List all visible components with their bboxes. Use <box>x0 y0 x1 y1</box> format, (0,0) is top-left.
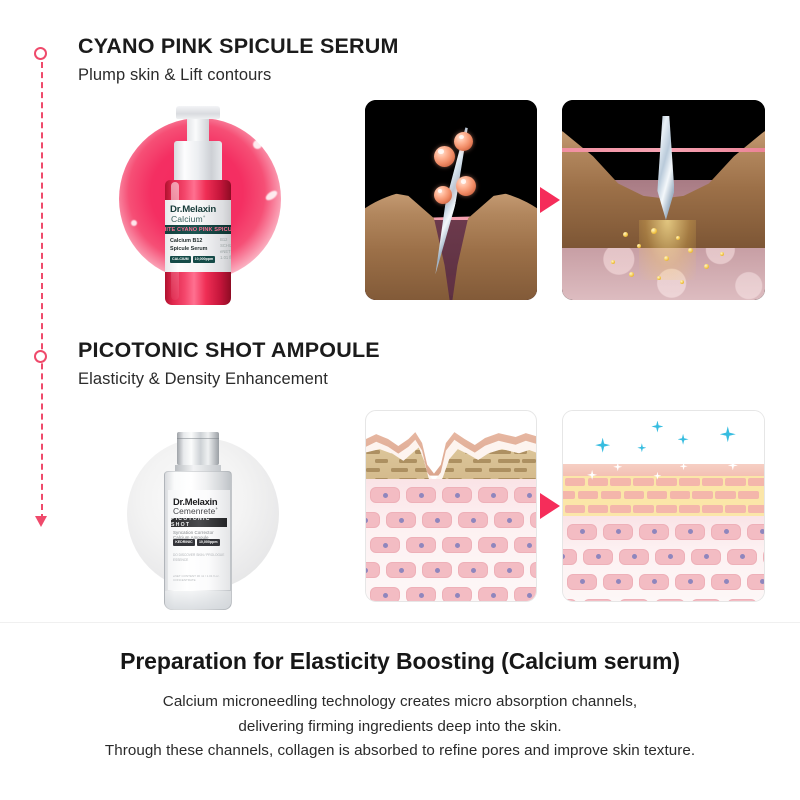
dermis-cell <box>562 599 577 603</box>
bottle-body: Dr.Melaxin Cemenrete+ PICOTONIC SHOT Syn… <box>164 471 232 610</box>
pump-head <box>176 106 220 119</box>
chip-ppm: 10,000ppm <box>193 256 216 262</box>
bottle-col-right-line2: SCHIZANDROBIUM <box>220 243 231 249</box>
dermis-cell <box>406 537 436 553</box>
corneum-dash <box>522 459 536 463</box>
chip-kedrinic: KEDRINIC <box>173 539 195 546</box>
panel-background <box>563 411 764 466</box>
collagen-brick <box>725 505 746 513</box>
dermis-cell-layer <box>563 516 764 602</box>
dermis-cell <box>711 524 741 540</box>
bottle-label: Dr.Melaxin Cemenrete+ PICOTONIC SHOT Syn… <box>168 490 230 590</box>
dermis-cell <box>747 524 765 540</box>
bottle-line-text: Calcium <box>171 214 203 224</box>
corneum-dash <box>498 459 520 463</box>
bottle-product-line: Cemenrete+ <box>173 506 218 516</box>
collagen-brick <box>647 491 668 499</box>
gold-particle <box>629 272 634 277</box>
dermis-cell <box>514 587 537 602</box>
footer-body: Calcium microneedling technology creates… <box>0 690 800 764</box>
collagen-brick-layer <box>563 476 764 518</box>
dermis-cell <box>583 599 613 603</box>
dermis-cell <box>530 512 537 528</box>
dermis-cell <box>370 487 400 503</box>
gold-particle <box>676 236 680 240</box>
dermis-cell <box>655 549 685 565</box>
dermis-cell <box>583 549 613 565</box>
section-2-subtitle: Elasticity & Density Enhancement <box>78 370 380 389</box>
dermis-cell <box>603 574 633 590</box>
collagen-brick <box>656 505 677 513</box>
gold-particle <box>680 280 684 284</box>
dermis-cell <box>422 562 452 578</box>
collagen-brick <box>679 505 700 513</box>
bottle-label-col-right: B12 SCHIZANDROBIUM eNET CONTENT 1.01 fl.… <box>220 237 231 271</box>
section-1-title: CYANO PINK SPICULE SERUM <box>78 34 399 59</box>
collagen-brick <box>656 478 677 486</box>
collagen-brick <box>610 505 631 513</box>
dermis-cell <box>567 574 597 590</box>
section-2-title: PICOTONIC SHOT AMPOULE <box>78 338 380 363</box>
product-image-cyano-pink-spicule-serum: Dr.Melaxin Calcium+ WHITE CYANO PINK SPI… <box>105 100 300 305</box>
collagen-brick <box>633 505 654 513</box>
calcium-bead <box>434 146 455 167</box>
corneum-dash <box>514 468 528 472</box>
section-1-subtitle: Plump skin & Lift contours <box>78 66 399 85</box>
bottle-band-text: PICOTONIC SHOT <box>171 516 227 528</box>
dermis-cell <box>763 599 765 603</box>
pump-collar <box>174 141 222 183</box>
corneum-dash <box>465 468 483 472</box>
corneum-dash <box>391 468 409 472</box>
panel-firmed-skin-cross-section <box>562 410 765 602</box>
panel-spicule-needle-entering-pore <box>365 100 537 300</box>
gold-particle <box>688 248 693 253</box>
bottle-tiny-text: DO DISCOVER SKIN / PROLOGUE ESSENCE <box>173 553 230 563</box>
collagen-brick <box>588 505 609 513</box>
collagen-brick <box>670 491 691 499</box>
footer-line-1: Calcium microneedling technology creates… <box>0 690 800 715</box>
dermis-cell <box>562 549 577 565</box>
dermis-cell <box>747 574 765 590</box>
product-image-picotonic-shot-ampoule: Dr.Melaxin Cemenrete+ PICOTONIC SHOT Syn… <box>105 410 300 610</box>
collagen-brick <box>563 491 575 499</box>
dermis-cell <box>711 574 741 590</box>
dermis-cell <box>406 487 436 503</box>
dermis-cell <box>386 562 416 578</box>
dermis-cell <box>458 562 488 578</box>
dropper-cap <box>177 432 219 465</box>
footer-line-3: Through these channels, collagen is abso… <box>0 739 800 764</box>
collagen-brick <box>679 478 700 486</box>
pump-neck <box>187 119 209 141</box>
sparkle-decoration <box>253 140 262 149</box>
footer-description-block: Preparation for Elasticity Boosting (Cal… <box>0 648 800 764</box>
bottle-col-left-line1: Calcium B12 <box>170 237 215 245</box>
bottle-band: PICOTONIC SHOT <box>171 518 227 527</box>
dermis-cell <box>370 537 400 553</box>
collagen-brick <box>715 491 736 499</box>
bottle-net-label: eNET CONTENT <box>220 249 231 255</box>
calcium-bead <box>434 186 452 204</box>
collagen-brick <box>624 491 645 499</box>
dermis-cell <box>619 599 649 603</box>
timeline-dashed-line <box>41 52 43 520</box>
dermis-cell <box>675 574 705 590</box>
dermis-cell <box>365 562 380 578</box>
collagen-brick <box>748 505 764 513</box>
chip-calcium: CALCIUM <box>170 256 191 262</box>
corneum-dash <box>489 468 511 472</box>
dermis-cell <box>478 487 508 503</box>
dermis-cell <box>406 587 436 602</box>
collagen-brick <box>725 478 746 486</box>
collagen-brick <box>692 491 713 499</box>
dermis-cell <box>727 549 757 565</box>
vertical-timeline <box>34 44 50 534</box>
collagen-brick <box>601 491 622 499</box>
bottle-ingredient-chips: CALCIUM 10,000ppm <box>170 256 215 262</box>
transition-arrow-right-icon-bottom <box>540 493 560 519</box>
footer-heading: Preparation for Elasticity Boosting (Cal… <box>0 648 800 675</box>
bottle-band-text: WHITE CYANO PINK SPICULE <box>165 227 231 233</box>
collagen-brick <box>633 478 654 486</box>
dermis-cell <box>514 487 537 503</box>
transition-arrow-right-icon-top <box>540 187 560 213</box>
corneum-dash <box>448 459 462 463</box>
dermis-cell <box>727 599 757 603</box>
collagen-brick <box>565 478 586 486</box>
corneum-dash <box>415 450 437 454</box>
dermis-cell <box>619 549 649 565</box>
bottle-ingredient-chips: KEDRINIC 10,000ppm <box>173 539 220 546</box>
footer-line-2: delivering firming ingredients deep into… <box>0 715 800 740</box>
bottle-col-left-line2: Spicule Serum <box>170 245 215 253</box>
dermis-cell <box>691 599 721 603</box>
ampoule-dropper-bottle: Dr.Melaxin Cemenrete+ PICOTONIC SHOT Syn… <box>155 432 241 610</box>
bottle-line-superscript: + <box>215 506 218 511</box>
bottle-body: Dr.Melaxin Calcium+ WHITE CYANO PINK SPI… <box>165 180 231 305</box>
dermis-cell <box>530 562 537 578</box>
chip-ppm: 10,000ppm <box>197 539 220 546</box>
dermis-cell <box>370 587 400 602</box>
collagen-brick <box>578 491 599 499</box>
collagen-brick <box>588 478 609 486</box>
bottle-line-superscript: + <box>203 214 206 219</box>
dermis-cell <box>386 512 416 528</box>
section-header-cyano-pink-spicule-serum: CYANO PINK SPICULE SERUM Plump skin & Li… <box>78 34 399 85</box>
footer-divider <box>0 622 800 623</box>
gold-particle <box>611 260 615 264</box>
dermis-cell <box>655 599 685 603</box>
collagen-brick <box>565 505 586 513</box>
panel-spicule-needle-deep-absorption <box>562 100 765 300</box>
bottle-liquid <box>165 591 231 609</box>
serum-pump-bottle: Dr.Melaxin Calcium+ WHITE CYANO PINK SPI… <box>157 106 239 305</box>
dermis-cell <box>442 487 472 503</box>
dermis-cell <box>639 574 669 590</box>
gold-particle <box>664 256 669 261</box>
dermis-cell <box>567 524 597 540</box>
dermis-cell <box>458 512 488 528</box>
dermis-cell <box>691 549 721 565</box>
sparkle-decoration <box>131 220 137 226</box>
dermis-cell <box>514 537 537 553</box>
bottle-band: WHITE CYANO PINK SPICULE <box>165 225 231 234</box>
collagen-brick <box>610 478 631 486</box>
bottle-net-value: 1.01 fl. oz. <box>220 255 231 261</box>
dermis-cell <box>494 512 524 528</box>
collagen-brick <box>748 478 764 486</box>
collagen-brick <box>738 491 759 499</box>
panel-wrinkled-skin-cross-section <box>365 410 537 602</box>
dermis-cell <box>603 524 633 540</box>
bottle-fine-print: eNET CONTENT 30 ml / 1.01 fl.oz. CONCENT… <box>173 574 230 582</box>
timeline-node-1 <box>34 47 47 60</box>
corneum-dash <box>473 459 491 463</box>
bottle-line-text: Cemenrete <box>173 506 215 516</box>
dermis-cell <box>478 587 508 602</box>
bottle-label-columns: Calcium B12 Spicule Serum CALCIUM 10,000… <box>165 237 231 271</box>
bottle-label: Dr.Melaxin Calcium+ WHITE CYANO PINK SPI… <box>165 200 231 272</box>
collagen-brick <box>702 505 723 513</box>
timeline-node-2 <box>34 350 47 363</box>
dermis-cell <box>763 549 765 565</box>
section-header-picotonic-shot-ampoule: PICOTONIC SHOT AMPOULE Elasticity & Dens… <box>78 338 380 389</box>
dermis-cell <box>442 587 472 602</box>
bottle-label-col-left: Calcium B12 Spicule Serum CALCIUM 10,000… <box>170 237 215 271</box>
dermis-cell <box>675 524 705 540</box>
corneum-dash <box>375 459 389 463</box>
bottle-product-line: Calcium+ <box>171 214 205 224</box>
dermis-cell-layer <box>366 479 536 601</box>
timeline-arrow-down-icon <box>35 516 47 527</box>
dermis-cell <box>442 537 472 553</box>
dermis-cell <box>494 562 524 578</box>
corneum-dash <box>366 468 380 472</box>
dermis-cell <box>639 524 669 540</box>
collagen-brick <box>702 478 723 486</box>
gold-particle <box>623 232 628 237</box>
dermis-cell <box>365 512 380 528</box>
dermis-cell <box>478 537 508 553</box>
dermis-cell <box>422 512 452 528</box>
